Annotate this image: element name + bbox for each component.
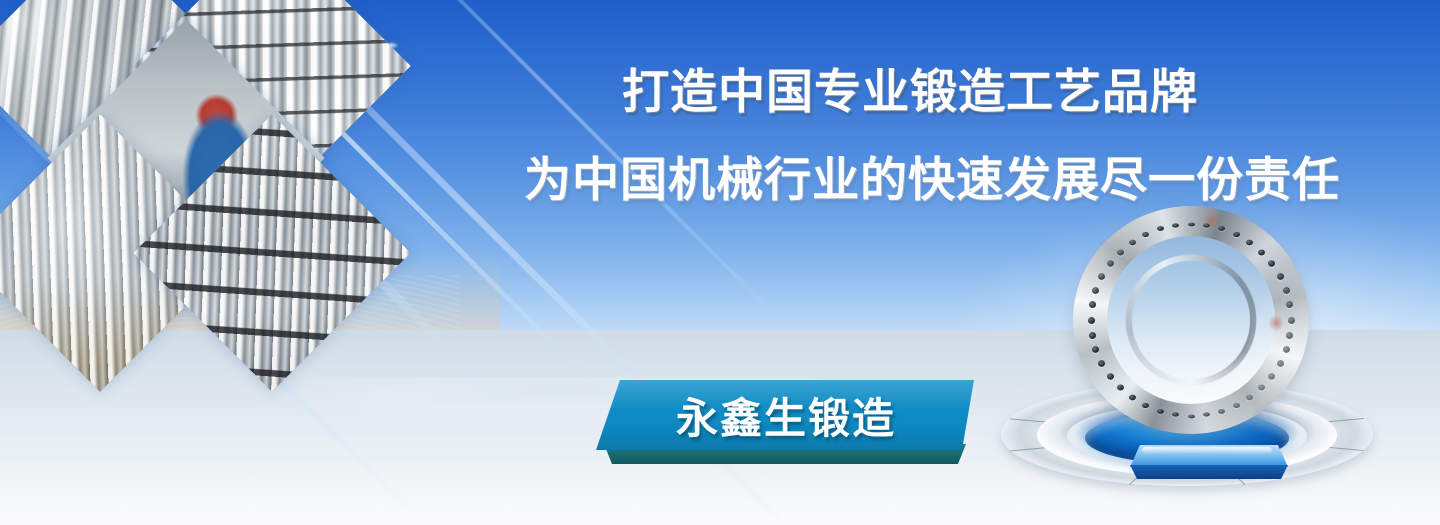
glass-step-shine <box>1142 447 1272 454</box>
flange-rust-spot <box>1269 314 1283 332</box>
headline-secondary: 为中国机械行业的快速发展尽一份责任 <box>524 156 1340 203</box>
forged-flange-ring <box>1073 206 1309 434</box>
product-showcase <box>975 200 1395 525</box>
headline-primary: 打造中国专业锻造工艺品牌 <box>622 68 1198 115</box>
flange-rust-spot <box>1201 216 1223 226</box>
photo-collage <box>0 0 470 400</box>
glass-step-side <box>1130 465 1288 479</box>
blue-glass-step <box>1130 445 1288 479</box>
plaque-label: 永鑫生锻造 <box>586 376 986 454</box>
promo-banner: 打造中国专业锻造工艺品牌 为中国机械行业的快速发展尽一份责任 永鑫生锻造 <box>0 0 1440 525</box>
brand-plaque[interactable]: 永鑫生锻造 <box>586 376 986 476</box>
